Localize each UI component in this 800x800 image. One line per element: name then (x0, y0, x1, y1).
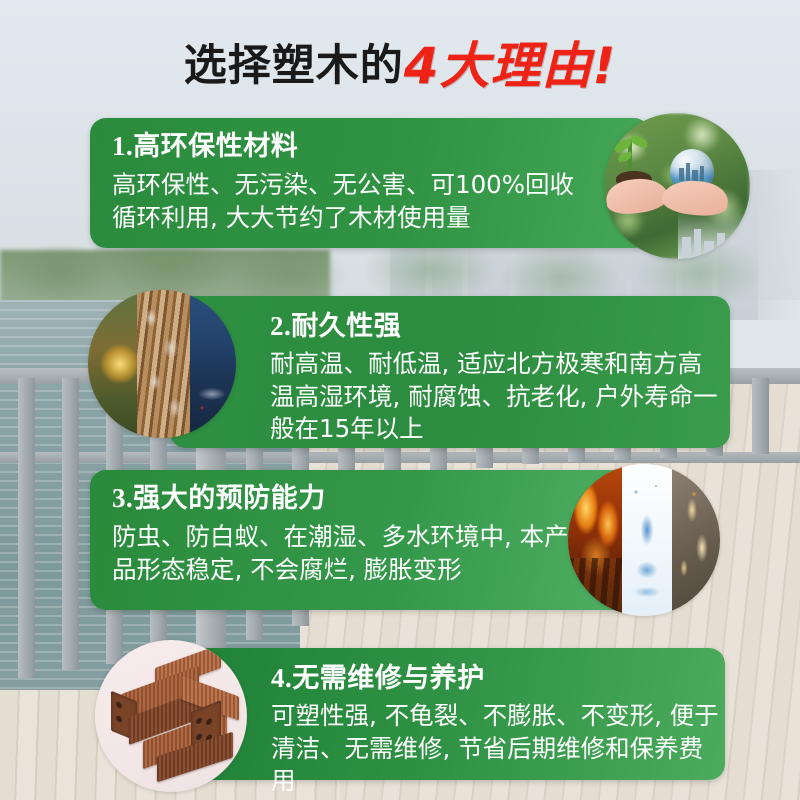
page-title: 选择塑木的4大理由! (0, 26, 800, 98)
reason-card-2: 2.耐久性强 耐高温、耐低温, 适应北方极寒和南方高 温高湿环境, 耐腐蚀、抗老… (170, 296, 730, 448)
page-title-black: 选择塑木的 (184, 41, 404, 91)
reason-4-photo (95, 640, 247, 792)
reason-4-body-line1: 可塑性强, 不龟裂、不膨胀、不变形, 便于 (271, 700, 725, 732)
water-splash-panel (622, 464, 672, 616)
reason-4-heading: 4.无需维修与养护 (271, 662, 725, 694)
reason-1-heading: 1.高环保性材料 (112, 130, 650, 162)
termite-panel (672, 464, 720, 616)
reason-2-body-line2: 温高湿环境, 耐腐蚀、抗老化, 户外寿命一 (270, 381, 730, 413)
reason-1-photo (604, 113, 750, 259)
cracked-bark-panel (137, 290, 190, 438)
railing-post (62, 378, 79, 670)
railing-post (18, 378, 35, 678)
reason-2-photo (88, 290, 236, 438)
reason-3-photo (568, 464, 720, 616)
reason-4-body-line2: 清洁、无需维修, 节省后期维修和保养费用 (271, 733, 725, 798)
reason-2-body-line3: 般在15年以上 (270, 413, 730, 445)
reason-1-body-line2: 循环利用, 大大节约了木材使用量 (112, 202, 650, 234)
fire-panel (568, 464, 622, 616)
reason-card-1: 1.高环保性材料 高环保性、无污染、无公害、可100%回收 循环利用, 大大节约… (90, 118, 650, 248)
page-title-red: 4大理由! (404, 37, 617, 95)
reason-2-heading: 2.耐久性强 (270, 310, 730, 342)
reason-1-body-line1: 高环保性、无污染、无公害、可100%回收 (112, 169, 650, 201)
reason-card-4: 4.无需维修与养护 可塑性强, 不龟裂、不膨胀、不变形, 便于 清洁、无需维修,… (165, 648, 725, 780)
railing-post (752, 378, 769, 454)
reason-2-body-line1: 耐高温、耐低温, 适应北方极寒和南方高 (270, 348, 730, 380)
snow-scene-panel (190, 290, 236, 438)
city-in-globe-backdrop (678, 211, 750, 259)
sun-through-forest-panel (88, 290, 137, 438)
